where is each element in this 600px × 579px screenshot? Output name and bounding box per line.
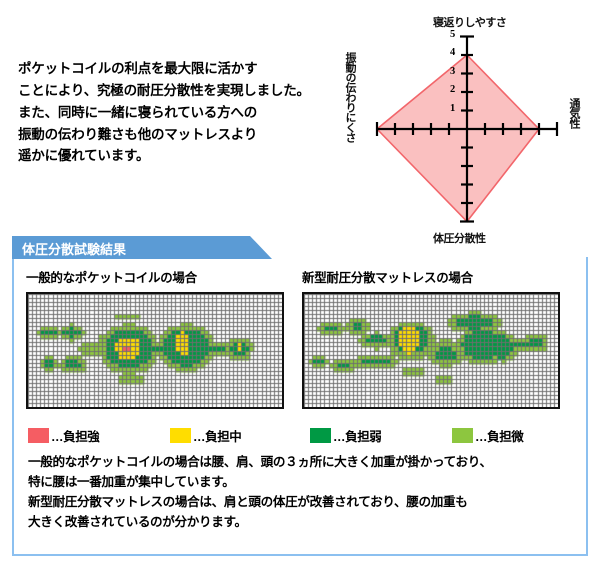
- panel-note-line: 大きく改善されているのが分かります。: [28, 513, 584, 533]
- radar-axis-label-right: 通気性: [566, 98, 582, 128]
- intro-line: ポケットコイルの利点を最大限に活かす: [18, 58, 338, 80]
- radar-chart: 寝返りしやすさ 通気性 体圧分散性 振動の伝わりにくさ 1 2 3 4 5: [340, 12, 600, 248]
- radar-chart-svg: [340, 12, 600, 248]
- radar-tick-1: 1: [450, 103, 455, 114]
- intro-line: 振動の伝わり難さも他のマットレスより: [18, 124, 338, 146]
- radar-tick-4: 4: [450, 47, 455, 58]
- pressure-map-standard-block: 一般的なポケットコイルの場合: [26, 267, 284, 409]
- radar-area: [377, 55, 539, 222]
- pressure-map-new-block: 新型耐圧分散マットレスの場合: [302, 267, 560, 409]
- pressure-map-new-frame: [302, 292, 560, 409]
- intro-line: 遥かに優れています。: [18, 145, 338, 167]
- legend-swatch-strong: [28, 428, 49, 443]
- pressure-map-new-caption: 新型耐圧分散マットレスの場合: [302, 267, 560, 286]
- legend-label-medium: …負担中: [193, 426, 241, 445]
- legend-label-slight: …負担微: [475, 426, 523, 445]
- panel-banner-title: 体圧分散試験結果: [22, 239, 126, 258]
- radar-axis-label-bottom: 体圧分散性: [433, 230, 486, 246]
- legend-item-weak: …負担弱: [310, 426, 452, 445]
- legend-item-medium: …負担中: [170, 426, 310, 445]
- pressure-map-standard-caption: 一般的なポケットコイルの場合: [26, 267, 284, 286]
- panel-banner-diagonal: [250, 236, 272, 259]
- test-result-panel: 一般的なポケットコイルの場合 新型耐圧分散マットレスの場合 …負担強 …負担中: [12, 257, 588, 556]
- intro-line: また、同時に一緒に寝られている方への: [18, 102, 338, 124]
- legend-swatch-weak: [310, 428, 331, 443]
- radar-tick-3: 3: [450, 66, 455, 77]
- radar-axis-label-left: 振動の伝わりにくさ: [342, 52, 358, 142]
- legend-label-strong: …負担強: [51, 426, 99, 445]
- page-root: ポケットコイルの利点を最大限に活かす ことにより、究極の耐圧分散性を実現しました…: [0, 0, 600, 579]
- legend-swatch-medium: [170, 428, 191, 443]
- panel-note: 一般的なポケットコイルの場合は腰、肩、頭の３ヵ所に大きく加重が掛かっており、 特…: [28, 453, 584, 533]
- intro-paragraph: ポケットコイルの利点を最大限に活かす ことにより、究極の耐圧分散性を実現しました…: [18, 58, 338, 167]
- radar-axis-label-top: 寝返りしやすさ: [433, 14, 506, 30]
- pressure-map-new-canvas: [304, 294, 558, 407]
- legend-item-slight: …負担微: [452, 426, 580, 445]
- legend-item-strong: …負担強: [28, 426, 170, 445]
- legend-label-weak: …負担弱: [333, 426, 381, 445]
- panel-note-line: 新型耐圧分散マットレスの場合は、肩と頭の体圧が改善されており、腰の加重も: [28, 493, 584, 513]
- pressure-legend: …負担強 …負担中 …負担弱 …負担微: [28, 426, 580, 445]
- radar-tick-5: 5: [450, 29, 455, 40]
- pressure-map-standard-frame: [26, 292, 284, 409]
- panel-note-line: 一般的なポケットコイルの場合は腰、肩、頭の３ヵ所に大きく加重が掛かっており、: [28, 453, 584, 473]
- pressure-map-standard-canvas: [28, 294, 282, 407]
- radar-tick-2: 2: [450, 84, 455, 95]
- panel-note-line: 特に腰は一番加重が集中しています。: [28, 473, 584, 493]
- legend-swatch-slight: [452, 428, 473, 443]
- intro-line: ことにより、究極の耐圧分散性を実現しました。: [18, 80, 338, 102]
